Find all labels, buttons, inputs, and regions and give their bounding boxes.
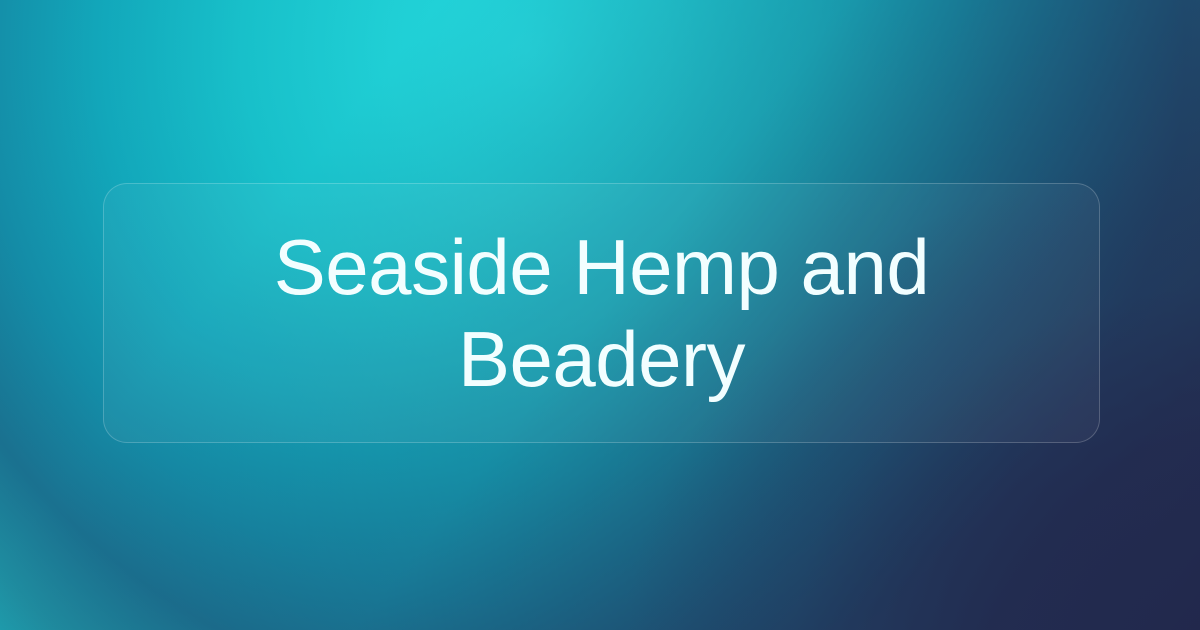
- page-title-line-2: Beadery: [458, 315, 745, 403]
- page-title: Seaside Hemp and Beadery: [138, 221, 1065, 405]
- og-preview-canvas: Seaside Hemp and Beadery: [0, 0, 1200, 630]
- title-card: Seaside Hemp and Beadery: [103, 183, 1100, 443]
- page-title-line-1: Seaside Hemp and: [274, 223, 929, 311]
